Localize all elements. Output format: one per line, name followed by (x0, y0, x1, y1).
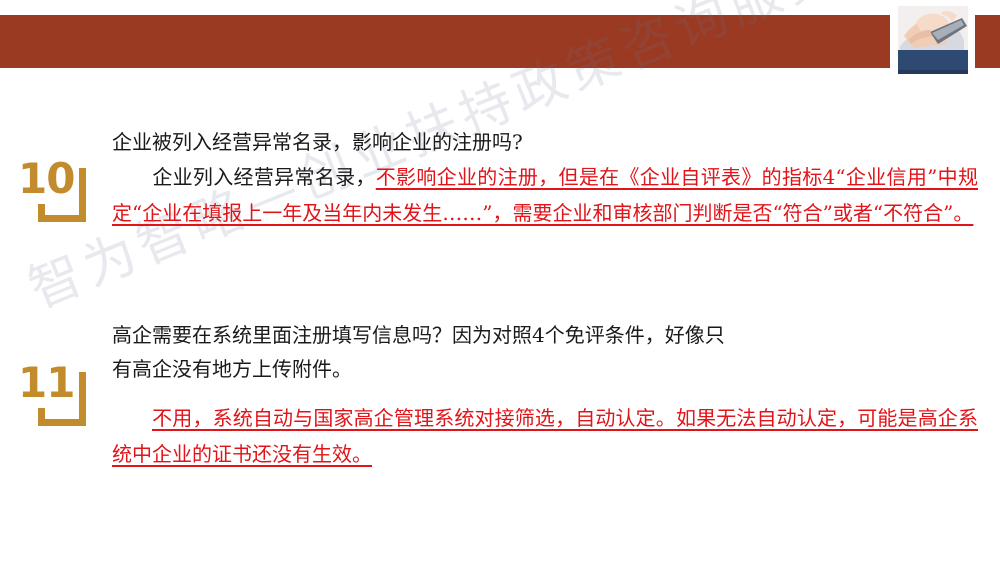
marker-bracket-corner (38, 408, 56, 426)
answer-paragraph-11: 不用，系统自动与国家高企管理系统对接筛选，自动认定。如果无法自动认定，可能是高企… (112, 400, 978, 472)
header-band-right (975, 15, 1000, 68)
item-number-marker-10: 10 (18, 158, 96, 230)
question-text-11-line2: 有高企没有地方上传附件。 (112, 352, 978, 386)
header-band-left (0, 15, 890, 68)
qa-block-10: 企业被列入经营异常名录，影响企业的注册吗? 企业列入经营异常名录，不影响企业的注… (112, 125, 978, 231)
question-text-10: 企业被列入经营异常名录，影响企业的注册吗? (112, 125, 978, 159)
answer-highlight-11: 不用，系统自动与国家高企管理系统对接筛选，自动认定。如果无法自动认定，可能是高企… (112, 406, 978, 466)
marker-bracket-corner (38, 204, 56, 222)
answer-lead-10: 企业列入经营异常名录， (152, 165, 376, 189)
question-text-11-line1: 高企需要在系统里面注册填写信息吗？因为对照4个免评条件，好像只 (112, 318, 978, 352)
header-photo-hands-holding-smartphone (898, 6, 968, 74)
item-number-label: 11 (18, 362, 74, 404)
answer-paragraph-10: 企业列入经营异常名录，不影响企业的注册，但是在《企业自评表》的指标4“企业信用”… (112, 159, 978, 231)
slide-canvas: 智为智略—创业扶持政策咨询服务专家 10 企业被列入经营异常名录，影响企业的注册… (0, 0, 1000, 562)
qa-block-11: 高企需要在系统里面注册填写信息吗？因为对照4个免评条件，好像只 有高企没有地方上… (112, 318, 978, 472)
item-number-marker-11: 11 (18, 362, 96, 434)
item-number-label: 10 (18, 158, 74, 200)
